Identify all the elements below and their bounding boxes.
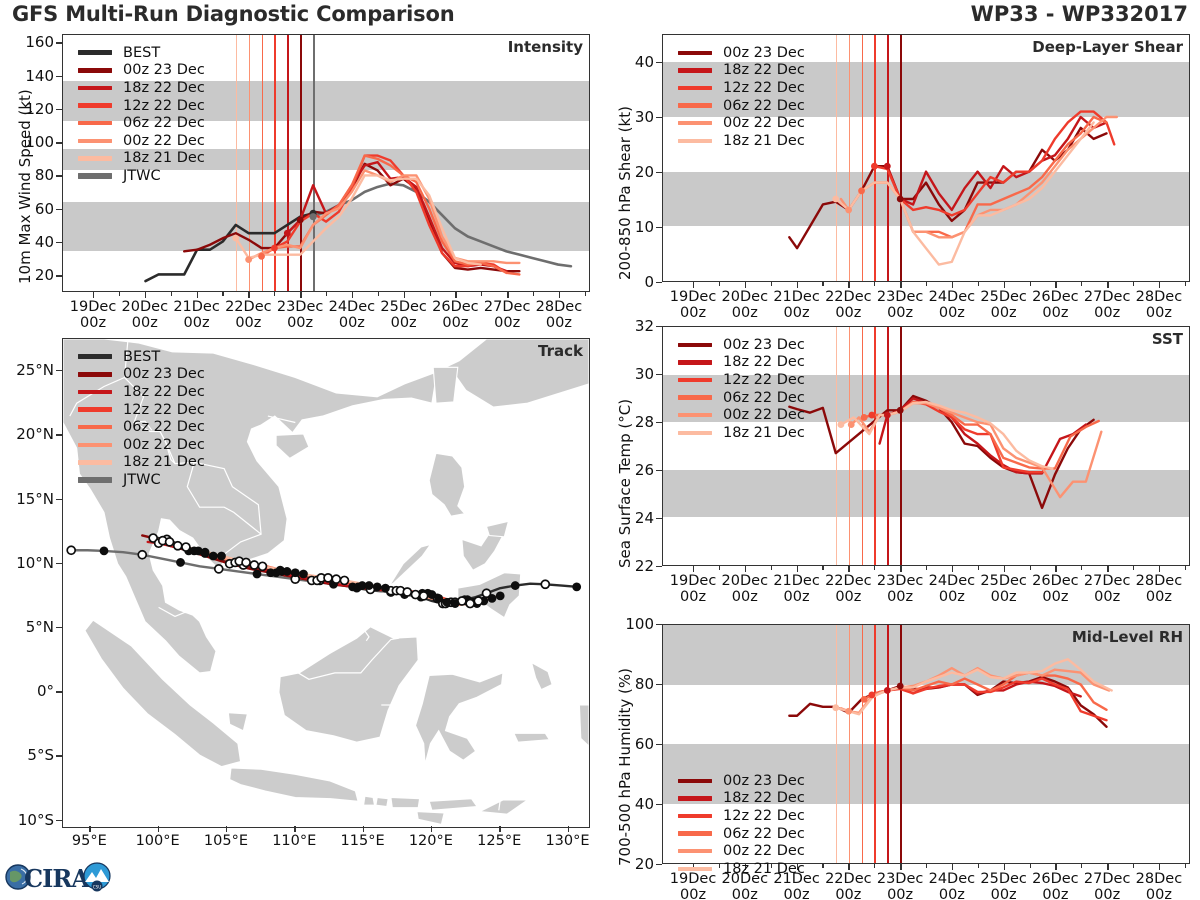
svg-text:CSU: CSU: [93, 885, 101, 890]
y-axis-tick-label: 40: [600, 53, 654, 71]
x-axis-minor-tick: [1133, 864, 1134, 868]
legend-entry-label: 18z 21 Dec: [723, 133, 805, 149]
track-legend: BEST00z 23 Dec18z 22 Dec12z 22 Dec06z 22…: [78, 346, 205, 489]
legend-entry-label: BEST: [123, 45, 160, 61]
x-axis-tick-label: 28Dec00z: [1125, 289, 1193, 321]
y-axis-tick-label: 0: [600, 273, 654, 291]
x-axis-tick: [1159, 282, 1160, 288]
track-marker-12z: [340, 576, 348, 584]
x-axis-minor-tick: [1185, 864, 1186, 868]
y-axis-tick-label: 120: [0, 100, 54, 118]
y-axis-tick-label: 0°: [0, 682, 54, 700]
x-axis-minor-tick: [719, 566, 720, 570]
y-axis-tick: [656, 518, 662, 519]
legend-entry-label: 12z 22 Dec: [723, 372, 805, 388]
y-axis-tick: [656, 624, 662, 625]
landmass: [514, 733, 550, 742]
legend-entry-label: JTWC: [123, 472, 161, 488]
x-axis-tick: [352, 292, 353, 298]
x-axis-tick: [745, 566, 746, 572]
init-marker-dot: [271, 245, 278, 252]
legend-entry: 00z 23 Dec: [78, 366, 205, 384]
legend-entry-label: 00z 22 Dec: [723, 407, 805, 423]
track-marker-12z: [541, 580, 549, 588]
cira-logo: CIRA CSU: [4, 856, 116, 896]
track-marker-12z: [174, 542, 182, 550]
landmass: [364, 796, 375, 805]
landmass: [462, 532, 503, 571]
legend-entry: 00z 23 Dec: [678, 44, 805, 62]
init-marker-dot: [897, 407, 904, 414]
track-marker-00z: [283, 567, 292, 576]
track-marker-00z: [511, 581, 520, 590]
panel-track: Track BEST00z 23 Dec18z 22 Dec12z 22 Dec…: [0, 330, 600, 860]
y-axis-tick-label: 15°N: [0, 490, 54, 508]
x-axis-minor-tick: [1081, 864, 1082, 868]
legend-color-swatch: [678, 831, 712, 835]
y-axis-tick-label: 30: [600, 365, 654, 383]
series-line: [872, 679, 1107, 721]
legend-entry: 18z 21 Dec: [678, 132, 805, 150]
x-axis-minor-tick: [771, 566, 772, 570]
legend-entry-label: 00z 22 Dec: [123, 437, 205, 453]
y-axis-tick-label: 60: [0, 200, 54, 218]
panel-sst: SST Sea Surface Temp (°C) 00z 23 Dec18z …: [600, 322, 1200, 612]
landmass: [376, 798, 388, 807]
track-marker-00z: [434, 594, 443, 603]
x-axis-minor-tick: [719, 282, 720, 286]
legend-entry: 18z 21 Dec: [678, 860, 805, 878]
track-marker-00z: [299, 570, 308, 579]
rh-panel-label: Mid-Level RH: [1072, 628, 1183, 646]
x-axis-tick-label: 28Dec00z: [525, 299, 593, 331]
x-axis-tick: [1004, 864, 1005, 870]
rh-legend: 00z 23 Dec18z 22 Dec12z 22 Dec06z 22 Dec…: [678, 770, 805, 878]
landmass: [230, 768, 358, 801]
track-marker-00z: [176, 558, 185, 567]
y-axis-tick-label: 30: [600, 108, 654, 126]
x-axis-tick: [455, 292, 456, 298]
x-axis-tick: [952, 864, 953, 870]
rh-y-axis-label: 700-500 hPa Humidity (%): [616, 668, 634, 866]
y-axis-tick: [656, 422, 662, 423]
legend-entry: 00z 22 Dec: [78, 436, 205, 454]
track-marker-12z: [138, 551, 146, 559]
track-marker-12z: [67, 546, 75, 554]
series-line: [262, 156, 520, 275]
init-marker-dot: [284, 230, 291, 237]
legend-entry-label: 18z 21 Dec: [723, 425, 805, 441]
x-axis-minor-tick: [771, 282, 772, 286]
map-x-axis-tick-label: 110°E: [260, 833, 328, 849]
track-marker-12z: [420, 592, 428, 600]
x-axis-tick: [848, 282, 849, 288]
track-panel-label: Track: [538, 342, 583, 360]
legend-entry-label: BEST: [123, 349, 160, 365]
landmass: [279, 627, 418, 743]
x-axis-tick: [1055, 566, 1056, 572]
series-line: [836, 659, 1112, 714]
legend-entry-label: 00z 22 Dec: [723, 843, 805, 859]
x-axis-minor-tick: [874, 864, 875, 868]
y-axis-tick-label: 10°N: [0, 554, 54, 572]
x-axis-minor-tick: [1030, 864, 1031, 868]
y-axis-tick-label: 5°N: [0, 618, 54, 636]
map-x-axis-tick-label: 120°E: [397, 833, 465, 849]
y-axis-tick: [56, 242, 62, 243]
x-axis-tick: [404, 292, 405, 298]
legend-color-swatch: [678, 378, 712, 382]
track-marker-12z: [411, 591, 419, 599]
x-axis-tick: [1159, 864, 1160, 870]
legend-entry-label: 00z 22 Dec: [123, 133, 205, 149]
x-axis-tick: [507, 292, 508, 298]
init-marker-dot: [897, 196, 904, 203]
track-marker-00z: [443, 598, 452, 607]
landmass: [390, 545, 431, 586]
svg-text:CIRA: CIRA: [24, 864, 90, 893]
x-axis-tick: [848, 864, 849, 870]
x-axis-tick: [693, 282, 694, 288]
legend-entry-label: 00z 23 Dec: [723, 773, 805, 789]
legend-entry: 12z 22 Dec: [78, 97, 205, 115]
x-axis-minor-tick: [822, 864, 823, 868]
legend-entry-label: 06z 22 Dec: [123, 419, 205, 435]
x-axis-minor-tick: [874, 282, 875, 286]
init-marker-dot: [897, 683, 904, 690]
track-marker-12z: [166, 538, 174, 546]
x-axis-tick: [952, 282, 953, 288]
legend-entry-label: 00z 23 Dec: [723, 337, 805, 353]
x-axis-tick: [848, 566, 849, 572]
y-axis-tick-label: 20: [600, 163, 654, 181]
legend-entry-label: 18z 21 Dec: [723, 861, 805, 877]
legend-entry-label: 18z 22 Dec: [723, 354, 805, 370]
x-axis-tick-label: 28Dec00z: [1125, 573, 1193, 605]
panel-shear: Deep-Layer Shear 200-850 hPa Shear (kt) …: [600, 22, 1200, 322]
init-marker-dot: [245, 256, 252, 263]
y-axis-tick: [656, 227, 662, 228]
legend-entry: 00z 22 Dec: [678, 114, 805, 132]
legend-entry: 12z 22 Dec: [78, 401, 205, 419]
legend-color-swatch: [678, 867, 712, 871]
x-axis-tick: [900, 566, 901, 572]
x-axis-minor-tick: [822, 566, 823, 570]
legend-entry-label: 18z 22 Dec: [723, 62, 805, 78]
shear-legend: 00z 23 Dec18z 22 Dec12z 22 Dec06z 22 Dec…: [678, 42, 805, 150]
landmass: [417, 812, 444, 825]
y-axis-tick-label: 40: [0, 233, 54, 251]
x-axis-minor-tick: [585, 292, 586, 296]
legend-entry: BEST: [78, 44, 205, 62]
x-axis-tick: [1107, 566, 1108, 572]
track-marker-00z: [496, 591, 505, 600]
legend-entry-label: 18z 21 Dec: [123, 454, 205, 470]
landmass: [429, 799, 477, 811]
y-axis-tick: [656, 172, 662, 173]
intensity-panel-label: Intensity: [508, 38, 583, 56]
x-axis-tick: [1004, 566, 1005, 572]
track-marker-00z: [365, 581, 374, 590]
x-axis-tick: [1107, 282, 1108, 288]
init-marker-dot: [832, 704, 839, 711]
init-marker-dot: [838, 421, 845, 428]
legend-entry: JTWC: [78, 471, 205, 489]
shear-panel-label: Deep-Layer Shear: [1032, 38, 1183, 56]
landmass: [228, 713, 247, 731]
y-axis-tick-label: 140: [0, 67, 54, 85]
track-marker-12z: [474, 597, 482, 605]
y-axis-tick: [56, 627, 62, 628]
x-axis-minor-tick: [978, 282, 979, 286]
track-marker-12z: [466, 600, 474, 608]
track-marker-00z: [209, 552, 218, 561]
y-axis-tick-label: 160: [0, 33, 54, 51]
x-axis-minor-tick: [222, 292, 223, 296]
init-marker-dot: [832, 196, 839, 203]
landmass: [391, 798, 420, 808]
x-axis-minor-tick: [171, 292, 172, 296]
legend-entry: 18z 22 Dec: [678, 354, 805, 372]
x-axis-minor-tick: [1081, 282, 1082, 286]
x-axis-tick: [300, 292, 301, 298]
y-axis-tick-label: 26: [600, 461, 654, 479]
y-axis-tick-label: 5°S: [0, 746, 54, 764]
landmass: [487, 521, 509, 536]
x-axis-tick: [1055, 282, 1056, 288]
y-axis-tick-label: 24: [600, 509, 654, 527]
legend-entry-label: 00z 23 Dec: [123, 62, 205, 78]
init-marker-dot: [848, 421, 855, 428]
legend-entry: 00z 22 Dec: [678, 842, 805, 860]
init-marker-dot: [871, 163, 878, 170]
legend-color-swatch: [78, 86, 112, 90]
legend-color-swatch: [678, 121, 712, 125]
init-marker-dot: [258, 253, 265, 260]
legend-entry: 18z 22 Dec: [678, 790, 805, 808]
y-axis-tick-label: 20: [0, 266, 54, 284]
legend-entry-label: 18z 21 Dec: [123, 150, 205, 166]
x-axis-tick: [900, 864, 901, 870]
x-axis-tick: [952, 566, 953, 572]
y-axis-tick: [56, 275, 62, 276]
map-x-axis-tick-label: 105°E: [192, 833, 260, 849]
x-axis-tick: [1107, 864, 1108, 870]
init-marker-dot: [861, 414, 868, 421]
legend-entry: 18z 21 Dec: [78, 454, 205, 472]
landmass: [85, 620, 241, 766]
y-axis-tick-label: 80: [600, 675, 654, 693]
x-axis-minor-tick: [978, 864, 979, 868]
legend-entry: 18z 22 Dec: [678, 62, 805, 80]
legend-entry-label: 18z 22 Dec: [123, 80, 205, 96]
legend-entry: 12z 22 Dec: [678, 371, 805, 389]
init-marker-dot: [868, 412, 875, 419]
y-axis-tick: [56, 434, 62, 435]
x-axis-minor-tick: [274, 292, 275, 296]
y-axis-tick: [56, 76, 62, 77]
track-junction-dot: [310, 213, 317, 220]
track-marker-12z: [258, 562, 266, 570]
track-marker-00z: [201, 548, 210, 557]
x-axis-minor-tick: [1081, 566, 1082, 570]
init-marker-dot: [297, 217, 304, 224]
legend-entry-label: 12z 22 Dec: [723, 80, 805, 96]
y-axis-tick: [656, 62, 662, 63]
x-axis-minor-tick: [926, 282, 927, 286]
x-axis-tick: [1004, 282, 1005, 288]
series-line: [887, 117, 1106, 210]
intensity-y-axis-label: 10m Max Wind Speed (kt): [16, 89, 34, 284]
init-marker-dot: [858, 187, 865, 194]
landmass: [433, 367, 458, 403]
init-marker-dot: [232, 235, 239, 242]
x-axis-minor-tick: [1133, 566, 1134, 570]
series-line: [880, 398, 1086, 473]
track-marker-00z: [217, 552, 226, 561]
track-marker-00z: [100, 546, 109, 555]
y-axis-tick-label: 25°N: [0, 361, 54, 379]
track-marker-00z: [373, 582, 382, 591]
track-marker-00z: [488, 594, 497, 603]
legend-color-swatch: [678, 431, 712, 435]
landmass: [532, 663, 553, 690]
track-marker-12z: [215, 565, 223, 573]
y-axis-tick: [656, 566, 662, 567]
series-line: [184, 164, 519, 271]
legend-color-swatch: [78, 407, 112, 411]
x-axis-minor-tick: [1185, 282, 1186, 286]
x-axis-minor-tick: [378, 292, 379, 296]
init-marker-dot: [845, 207, 852, 214]
legend-entry: 12z 22 Dec: [678, 807, 805, 825]
legend-color-swatch: [78, 354, 112, 359]
y-axis-tick-label: 10: [600, 218, 654, 236]
y-axis-tick: [656, 804, 662, 805]
legend-entry-label: 00z 22 Dec: [723, 115, 805, 131]
legend-color-swatch: [678, 395, 712, 399]
x-axis-tick: [1055, 864, 1056, 870]
y-axis-tick: [56, 142, 62, 143]
legend-color-swatch: [678, 139, 712, 143]
legend-color-swatch: [78, 390, 112, 394]
x-axis-minor-tick: [1133, 282, 1134, 286]
legend-entry: 06z 22 Dec: [678, 97, 805, 115]
x-axis-minor-tick: [1030, 282, 1031, 286]
sst-legend: 00z 23 Dec18z 22 Dec12z 22 Dec06z 22 Dec…: [678, 334, 805, 442]
figure-root: GFS Multi-Run Diagnostic Comparison WP33…: [0, 0, 1200, 900]
x-axis-tick: [797, 566, 798, 572]
legend-color-swatch: [678, 360, 712, 364]
x-axis-tick-label: 28Dec00z: [1125, 871, 1193, 900]
y-axis-tick: [656, 282, 662, 283]
panel-rh: Mid-Level RH 700-500 hPa Humidity (%) 00…: [600, 610, 1200, 900]
legend-color-swatch: [678, 103, 712, 107]
track-marker-12z: [324, 574, 332, 582]
legend-entry-label: 06z 22 Dec: [723, 826, 805, 842]
y-axis-tick: [56, 563, 62, 564]
track-marker-00z: [291, 568, 300, 577]
x-axis-minor-tick: [978, 566, 979, 570]
y-axis-tick-label: 100: [600, 615, 654, 633]
legend-color-swatch: [78, 121, 112, 125]
legend-color-swatch: [78, 425, 112, 429]
legend-entry-label: 00z 23 Dec: [123, 366, 205, 382]
legend-color-swatch: [678, 796, 712, 800]
x-axis-minor-tick: [1185, 566, 1186, 570]
legend-entry: 00z 23 Dec: [678, 336, 805, 354]
y-axis-tick: [56, 42, 62, 43]
y-axis-tick: [656, 470, 662, 471]
legend-color-swatch: [678, 814, 712, 818]
track-marker-00z: [381, 584, 390, 593]
x-axis-minor-tick: [874, 566, 875, 570]
y-axis-tick: [56, 499, 62, 500]
track-marker-12z: [403, 588, 411, 596]
y-axis-tick: [56, 175, 62, 176]
y-axis-tick-label: 28: [600, 413, 654, 431]
x-axis-tick: [745, 282, 746, 288]
x-axis-minor-tick: [119, 292, 120, 296]
y-axis-tick-label: 20°N: [0, 425, 54, 443]
legend-color-swatch: [78, 443, 112, 447]
landmass: [276, 434, 309, 458]
track-marker-12z: [332, 575, 340, 583]
y-axis-tick: [56, 820, 62, 821]
legend-color-swatch: [678, 779, 712, 783]
legend-entry: 12z 22 Dec: [678, 79, 805, 97]
x-axis-minor-tick: [1030, 566, 1031, 570]
legend-entry: 06z 22 Dec: [78, 418, 205, 436]
landmass: [579, 705, 589, 746]
y-axis-tick: [656, 374, 662, 375]
legend-entry-label: 06z 22 Dec: [123, 115, 205, 131]
legend-color-swatch: [678, 343, 712, 347]
x-axis-tick: [197, 292, 198, 298]
legend-entry: 18z 22 Dec: [78, 79, 205, 97]
legend-entry-label: 18z 22 Dec: [123, 384, 205, 400]
legend-entry: JTWC: [78, 167, 205, 185]
legend-entry: 18z 22 Dec: [78, 383, 205, 401]
x-axis-minor-tick: [926, 566, 927, 570]
legend-color-swatch: [78, 477, 112, 482]
y-axis-tick: [56, 109, 62, 110]
x-axis-minor-tick: [822, 282, 823, 286]
track-marker-12z: [182, 543, 190, 551]
map-x-axis-tick-label: 125°E: [465, 833, 533, 849]
legend-entry: 00z 22 Dec: [78, 132, 205, 150]
legend-color-swatch: [78, 103, 112, 107]
y-axis-tick-label: 20: [600, 855, 654, 873]
init-marker-dot: [868, 692, 875, 699]
x-axis-minor-tick: [926, 864, 927, 868]
y-axis-tick-label: 10°S: [0, 811, 54, 829]
map-x-axis-tick-label: 95°E: [55, 833, 123, 849]
y-axis-tick-label: 32: [600, 317, 654, 335]
y-axis-tick: [56, 370, 62, 371]
intensity-legend: BEST00z 23 Dec18z 22 Dec12z 22 Dec06z 22…: [78, 42, 205, 185]
landmass: [429, 453, 465, 516]
legend-color-swatch: [78, 139, 112, 143]
x-axis-tick: [145, 292, 146, 298]
legend-entry: 00z 22 Dec: [678, 406, 805, 424]
track-marker-12z: [250, 561, 258, 569]
legend-color-swatch: [678, 68, 712, 72]
shear-y-axis-label: 200-850 hPa Shear (kt): [616, 106, 634, 280]
y-axis-tick-label: 22: [600, 557, 654, 575]
x-axis-minor-tick: [533, 292, 534, 296]
track-marker-00z: [451, 599, 460, 608]
